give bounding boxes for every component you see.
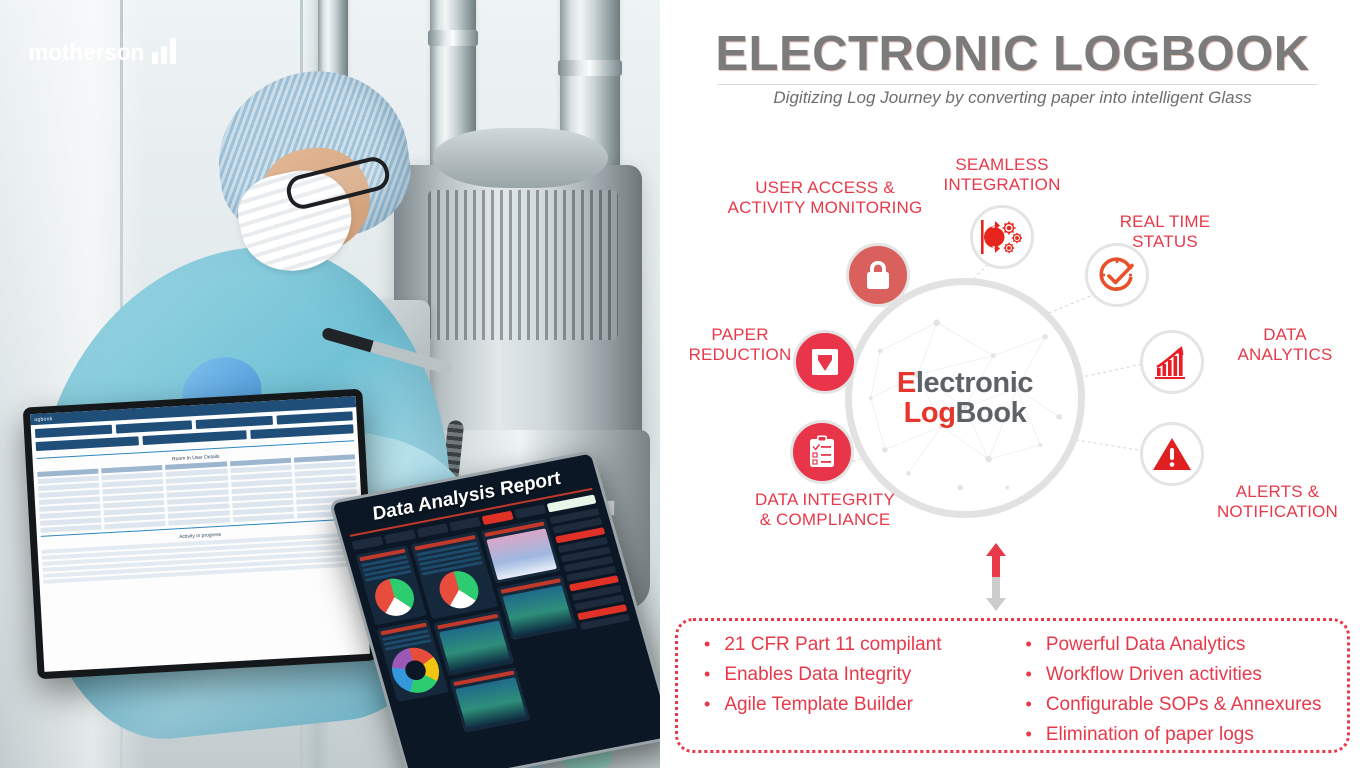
bullet-glyph: • [704,635,710,653]
hub-line-1: Electronic [897,368,1033,398]
list-item: •Enables Data Integrity [704,665,1008,684]
clock-check-icon [1085,243,1149,307]
list-item: •Powerful Data Analytics [1026,635,1330,654]
kpi-card [433,610,515,676]
key-benefits-box: •21 CFR Part 11 compilant •Enables Data … [675,618,1350,753]
monitor-screen: ogbook Room In User Details [30,396,370,672]
area-chart [439,621,511,673]
bullet-glyph: • [704,665,710,683]
feature-label-alerts: ALERTS &NOTIFICATION [1190,482,1365,521]
list-item: •Agile Template Builder [704,695,1008,714]
feature-label-data-integrity: DATA INTEGRITY& COMPLIANCE [680,490,970,529]
benefits-left-column: •21 CFR Part 11 compilant •Enables Data … [704,635,1008,740]
kpi-card [449,667,531,733]
tab [417,523,449,537]
gears-icon [970,205,1034,269]
filter-dropdown [196,416,273,429]
feature-label-paper-reduction: PAPERREDUCTION [660,325,820,364]
bullet-glyph: • [1026,635,1032,653]
clipboard-checklist-icon [790,420,854,484]
filter-dropdown [35,425,112,438]
hub-label: Electronic LogBook [897,368,1033,429]
motor-cooling-fins [428,190,618,340]
feature-node-data-analytics[interactable] [1140,330,1204,394]
feature-node-alerts[interactable] [1140,422,1204,486]
area-chart [455,677,527,729]
feature-node-real-time-status[interactable] [1085,243,1149,307]
app-title: ogbook [34,416,53,423]
area-chart [503,585,573,637]
content-panel: ELECTRONIC LOGBOOK Digitizing Log Journe… [660,0,1365,768]
tab-active [482,511,514,525]
bullet-glyph: • [1026,665,1032,683]
slide-root: IU-TEC ogbook [0,0,1365,768]
warning-triangle-icon [1140,422,1204,486]
desktop-monitor: ogbook Room In User Details [23,389,378,680]
pie-chart [435,568,483,612]
tab [449,517,481,531]
brand-name: motherson [28,41,144,64]
bullet-glyph: • [1026,695,1032,713]
page-title: ELECTRONIC LOGBOOK [660,26,1365,82]
bar-chart-arrow-icon [1140,330,1204,394]
padlock-icon [846,243,910,307]
tab [514,504,546,518]
feature-label-data-analytics: DATAANALYTICS [1210,325,1360,364]
pie-chart [371,575,419,619]
list-item: •Workflow Driven activities [1026,665,1330,684]
bullet-glyph: • [1026,725,1032,743]
hero-photo: IU-TEC ogbook [0,0,660,768]
page-subtitle: Digitizing Log Journey by converting pap… [660,88,1365,108]
title-divider [718,84,1317,85]
hub-circle: Electronic LogBook [845,278,1085,518]
donut-chart [387,644,445,697]
tab [384,530,416,544]
bullet-glyph: • [704,695,710,713]
list-item: •Configurable SOPs & Annexures [1026,695,1330,714]
feature-node-seamless-integration[interactable] [970,205,1034,269]
list-item: •Elimination of paper logs [1026,725,1330,744]
hub-line-2: LogBook [897,398,1033,428]
filter-dropdown [115,420,192,433]
bar-chart-logo-mark-icon [152,38,176,64]
feature-node-user-access[interactable] [846,243,910,307]
dashboard-grid [355,508,651,744]
tab [352,536,384,550]
benefits-right-column: •Powerful Data Analytics •Workflow Drive… [1008,635,1330,740]
motor-cap [433,128,608,188]
up-down-arrow-icon [985,543,1007,611]
feature-label-real-time-status: REAL TIMESTATUS [1070,212,1260,251]
line-chart [487,528,557,580]
kpi-card [481,518,561,583]
feature-node-data-integrity[interactable] [790,420,854,484]
filter-dropdown [276,411,353,424]
feature-label-seamless-integration: SEAMLESSINTEGRATION [892,155,1112,194]
list-item: •21 CFR Part 11 compilant [704,635,1008,654]
kpi-card [497,575,577,640]
brand-logo: motherson [28,38,176,64]
